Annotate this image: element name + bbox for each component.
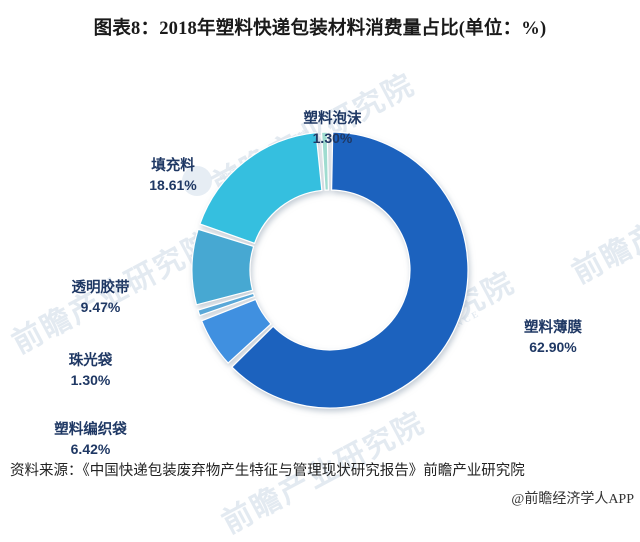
slice-label-value: 1.30%: [28, 372, 153, 389]
slice-label-name: 填充料: [108, 158, 238, 176]
slice-label-name: 塑料薄膜: [478, 320, 628, 338]
donut-chart: [0, 48, 640, 452]
source-note: 资料来源：《中国快递包装废弃物产生特征与管理现状研究报告》前瞻产业研究院: [10, 459, 525, 480]
slice-label-woven-bag: 塑料编织袋 6.42%: [18, 422, 163, 458]
slice-label-plastic-film: 塑料薄膜 62.90%: [478, 320, 628, 356]
slice-label-clear-tape: 透明胶带 9.47%: [33, 280, 168, 316]
slice-label-value: 1.30%: [265, 130, 400, 147]
slice-label-value: 18.61%: [108, 177, 238, 194]
donut-slice[interactable]: [192, 229, 254, 305]
chart-plot-area: 前瞻产业研究院 中国产业咨询领导者 前瞻产业研究院 QIANZHAN INTEL…: [0, 48, 640, 452]
slice-label-name: 珠光袋: [28, 353, 153, 371]
slice-label-pearl-bag: 珠光袋 1.30%: [28, 353, 153, 389]
slice-label-value: 9.47%: [33, 299, 168, 316]
page-title: 图表8：2018年塑料快递包装材料消费量占比(单位：%): [0, 14, 640, 40]
slice-label-value: 62.90%: [478, 339, 628, 356]
slice-label-plastic-foam: 塑料泡沫 1.30%: [265, 111, 400, 147]
slice-label-name: 透明胶带: [33, 280, 168, 298]
slice-label-name: 塑料泡沫: [265, 111, 400, 129]
app-attribution: @前瞻经济学人APP: [0, 488, 634, 508]
chart-footer: 资料来源：《中国快递包装废弃物产生特征与管理现状研究报告》前瞻产业研究院 @前瞻…: [0, 455, 640, 522]
slice-label-filler: 填充料 18.61%: [108, 158, 238, 194]
slice-label-name: 塑料编织袋: [18, 422, 163, 440]
